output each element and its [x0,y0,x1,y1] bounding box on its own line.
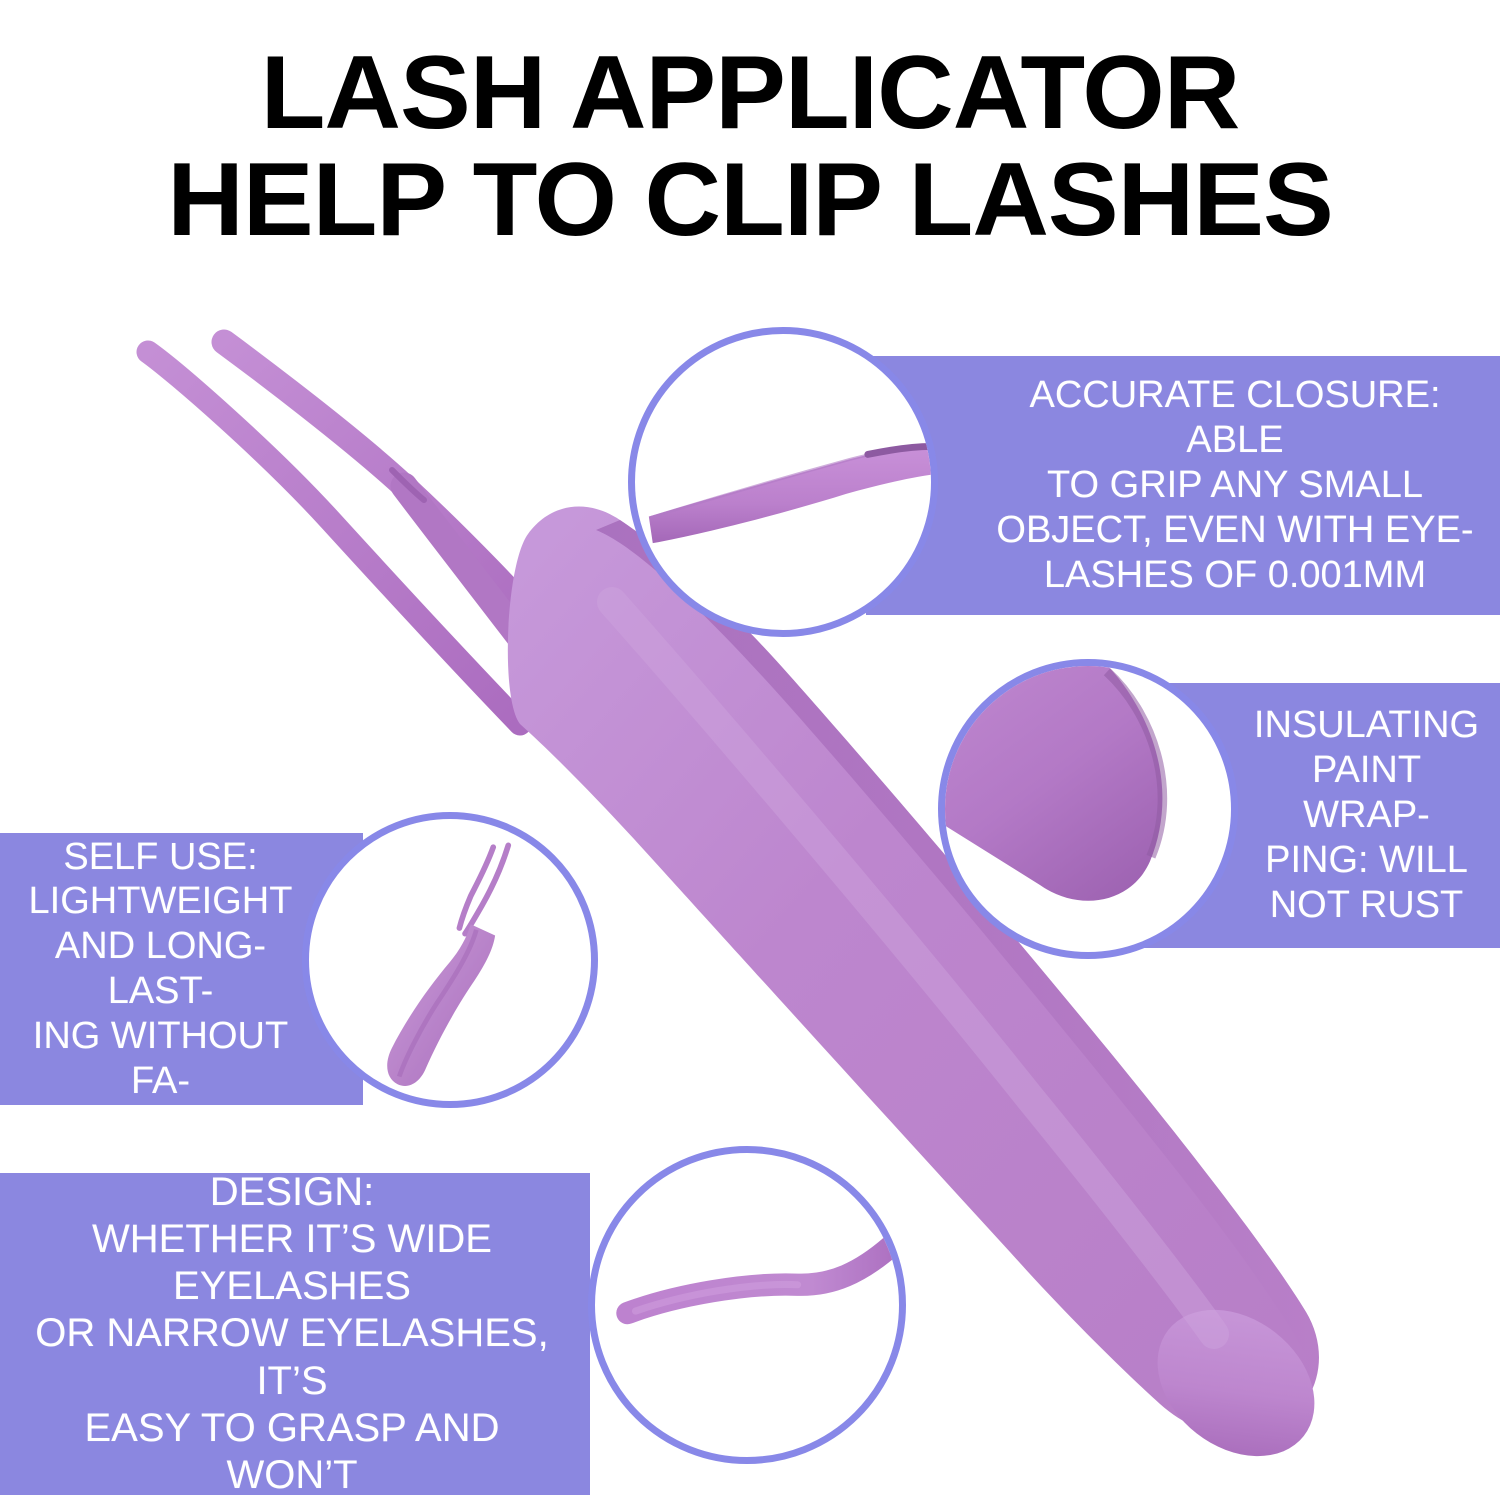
callout-insulating-paint-text: INSULATING PAINT WRAP- PING: WILL NOT RU… [1247,703,1486,927]
page-title: LASH APPLICATOR HELP TO CLIP LASHES [0,42,1500,252]
title-line-2: HELP TO CLIP LASHES [0,149,1500,252]
callout-special-tweezer-top-text: SPECIAL TWEEZER TOP DESIGN: WHETHER IT’S… [14,1122,570,1500]
title-line-1: LASH APPLICATOR [0,42,1500,145]
detail-circle-whole-tweezer [302,812,598,1108]
callout-accurate-closure: ACCURATE CLOSURE: ABLE TO GRIP ANY SMALL… [866,356,1500,615]
whole-tweezer-icon [309,819,591,1101]
detail-circle-curved-tweezer-arm [588,1146,906,1464]
detail-circle-closed-tweezer-tip [628,327,938,637]
closed-tweezer-tip-icon [635,334,931,630]
painted-handle-end-icon [945,666,1231,952]
curved-tweezer-arm-icon [595,1153,899,1457]
callout-special-tweezer-top: SPECIAL TWEEZER TOP DESIGN: WHETHER IT’S… [0,1173,590,1495]
callout-accurate-closure-text: ACCURATE CLOSURE: ABLE TO GRIP ANY SMALL… [986,373,1484,597]
detail-circle-painted-handle-end [938,659,1238,959]
infographic-canvas: LASH APPLICATOR HELP TO CLIP LASHES ACCU… [0,0,1500,1500]
callout-perfect-self-use-text: PERFECT FOR SELF USE: LIGHTWEIGHT AND LO… [10,790,311,1149]
